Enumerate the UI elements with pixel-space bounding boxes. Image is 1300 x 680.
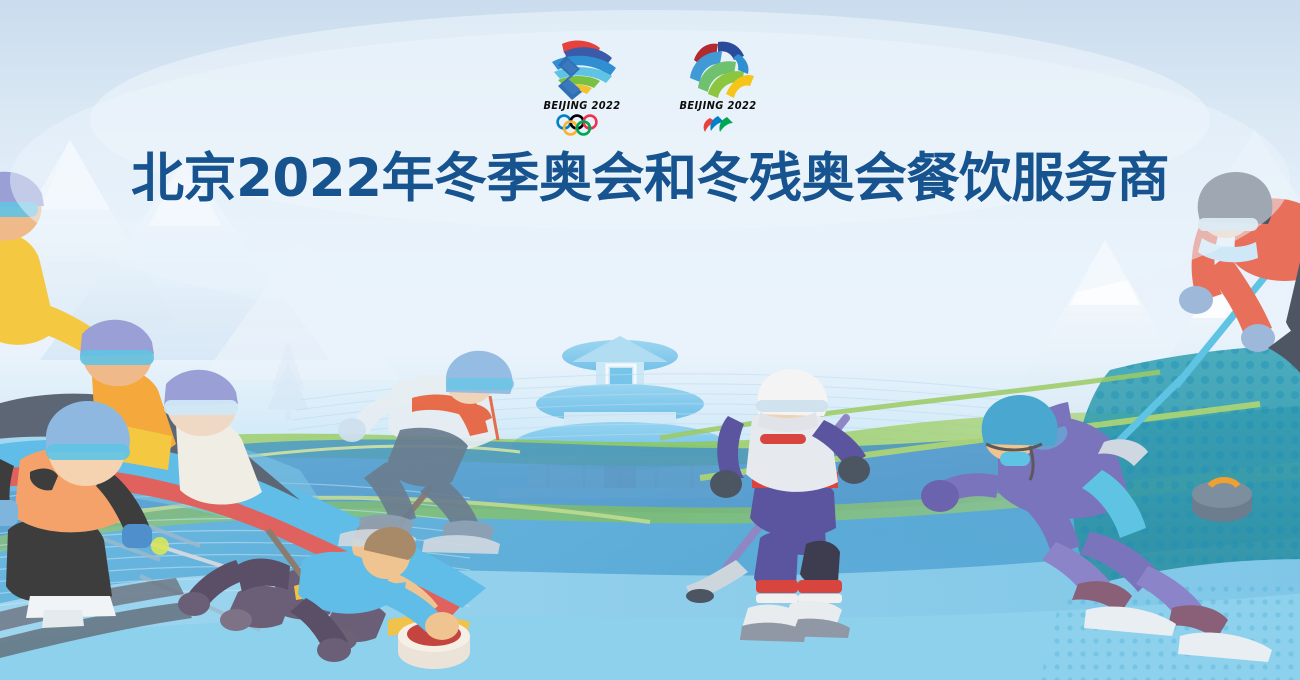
- olympic-emblem-wordmark: BEIJING 2022: [539, 100, 625, 112]
- paralympic-emblem-wordmark: BEIJING 2022: [675, 100, 761, 112]
- beijing-2022-banner: BEIJING 2022: [0, 0, 1300, 680]
- emblem-row: BEIJING 2022: [0, 34, 1300, 134]
- paralympic-emblem-graphic: [672, 34, 764, 108]
- page-title: 北京2022年冬季奥会和冬残奥会餐饮服务商: [0, 146, 1300, 212]
- beijing-2022-olympic-emblem: BEIJING 2022: [536, 34, 628, 134]
- olympic-emblem-graphic: [536, 34, 628, 108]
- olympic-rings-icon: [536, 114, 628, 136]
- agitos-icon: [672, 114, 764, 136]
- beijing-2022-paralympic-emblem: BEIJING 2022: [672, 34, 764, 134]
- curling-stone-grey: [1192, 480, 1252, 522]
